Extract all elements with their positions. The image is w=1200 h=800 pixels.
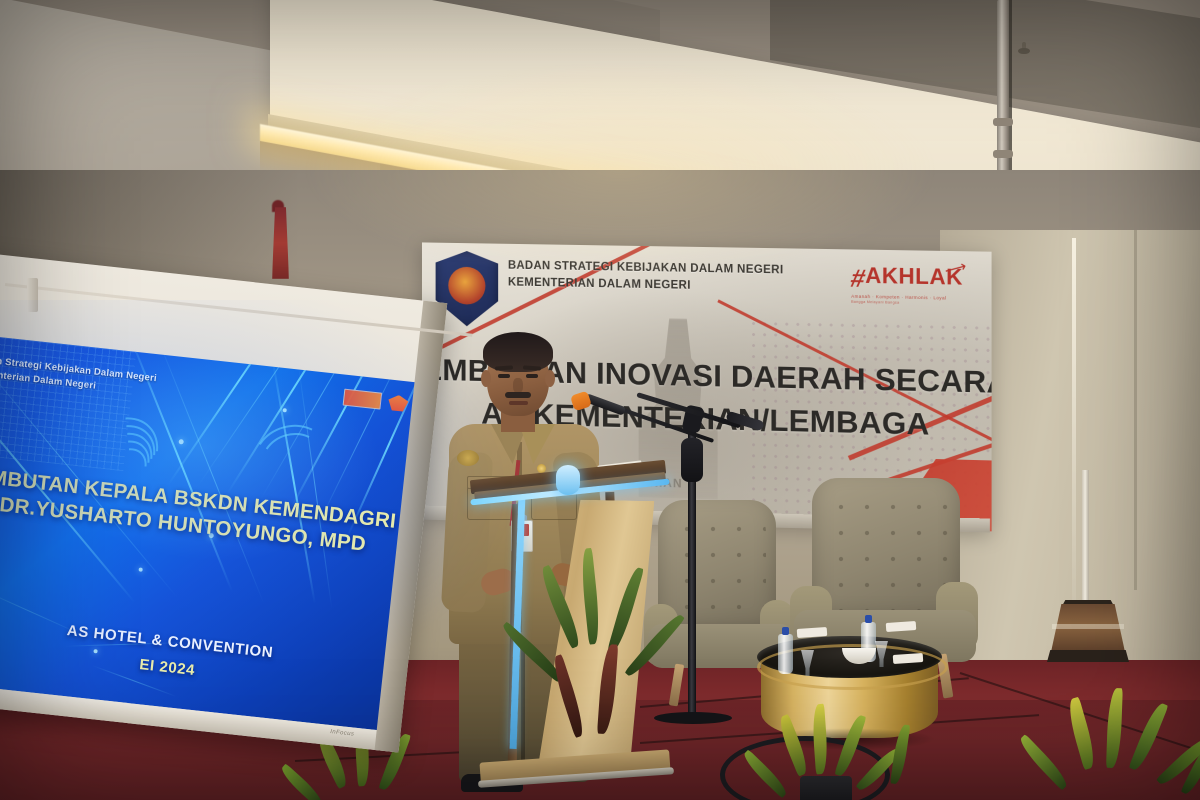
wall-seam-secondary	[1134, 230, 1137, 590]
flag-base-stand	[1047, 596, 1129, 664]
plant-pot	[800, 776, 852, 800]
conference-room-photo: BADAN STRATEGI KEBIJAKAN DALAM NEGERI KE…	[0, 0, 1200, 800]
flag-pole	[1082, 470, 1089, 602]
akhlak-logo: ⟶ #AKHLAK Amanah · Kompeten · Harmonis ·…	[851, 265, 963, 306]
speaker-mustache	[505, 392, 531, 398]
kemendagri-flame-logo-icon	[387, 394, 409, 412]
projected-slide: Badan Strategi Kebijakan Dalam Negeri Ke…	[0, 335, 424, 732]
speaker-eye-left	[498, 374, 510, 378]
akhlak-hash: #	[848, 267, 867, 292]
croton-plant-right	[1040, 706, 1200, 800]
chair-tufting	[822, 488, 950, 618]
fire-sprinkler-icon	[1018, 42, 1030, 55]
projection-screen[interactable]: Badan Strategi Kebijakan Dalam Negeri Ke…	[0, 252, 447, 753]
speaker-hair	[483, 332, 553, 372]
water-bottle[interactable]	[778, 634, 793, 674]
projector-cable	[1009, 0, 1019, 190]
speaker-ear-right	[545, 370, 555, 387]
lectern-led-cap	[556, 465, 580, 495]
speaker-nose	[513, 378, 523, 393]
croton-plant-center	[545, 548, 685, 798]
wall-seam	[1072, 238, 1076, 638]
speaker-eye-right	[526, 374, 538, 378]
screen-rod-bracket	[27, 278, 38, 312]
banner-organization: BADAN STRATEGI KEBIJAKAN DALAM NEGERI KE…	[508, 258, 784, 296]
speaker-mouth	[509, 401, 528, 405]
speaker-ear-left	[481, 370, 491, 387]
croton-plant-front	[760, 718, 960, 800]
